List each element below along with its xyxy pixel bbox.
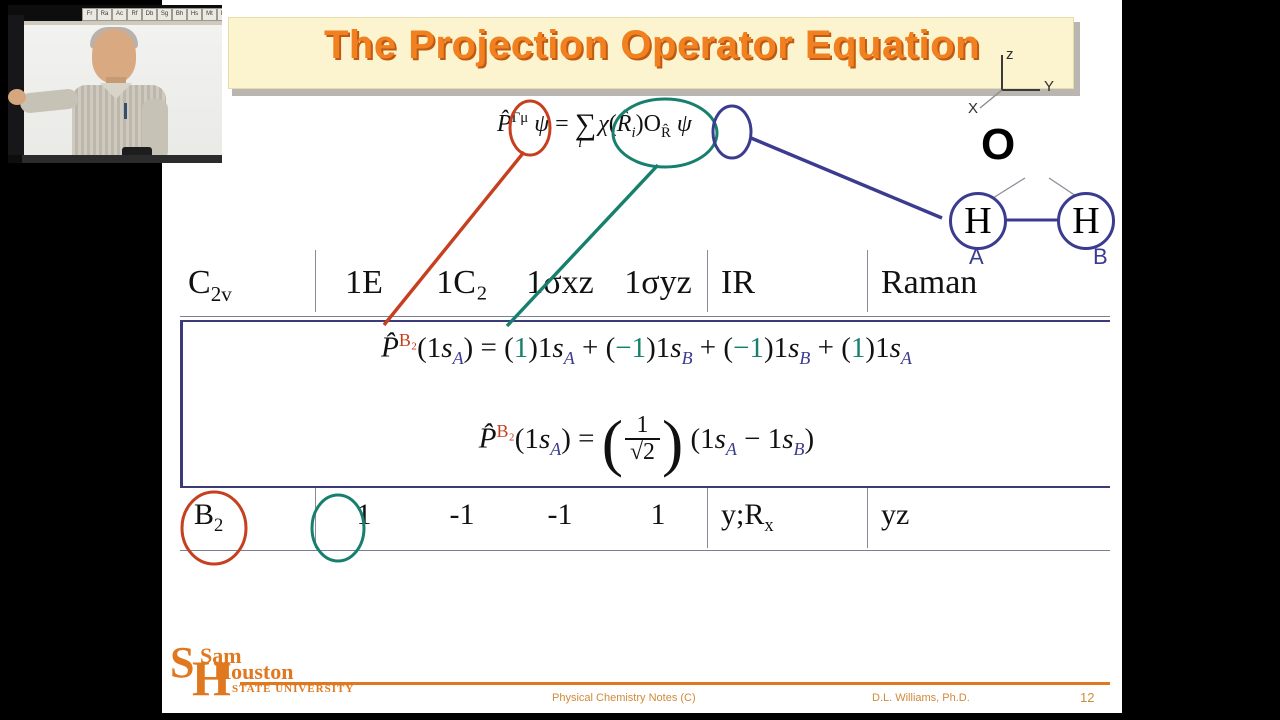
hydrogen-b-atom: H xyxy=(1057,192,1115,250)
row-divider-1 xyxy=(315,488,316,548)
p-operator-2: P̂ xyxy=(479,423,497,455)
table-header-row: C2v 1E 1C₂ 1σxz 1σyz IR Raman xyxy=(180,250,1110,312)
ir-label: IR xyxy=(721,264,755,301)
header-point-group: C2v xyxy=(180,250,315,312)
hydrogen-a-atom: H xyxy=(949,192,1007,250)
header-operation-sigma-yz: 1σyz xyxy=(609,250,707,312)
title-banner: The Projection Operator Equation xyxy=(228,17,1074,89)
column-divider-2 xyxy=(707,250,708,312)
periodic-table-strip: Fr Ra Ac Rf Db Sg Bh Hs Mt Ds xyxy=(82,8,222,21)
header-operation-1e: 1E xyxy=(315,250,413,312)
row-divider-2 xyxy=(707,488,708,548)
hydrogen-a-label: H xyxy=(964,199,991,243)
point-group-letter: C xyxy=(188,264,211,301)
header-operation-sigma-xz: 1σxz xyxy=(511,250,609,312)
character-chi: χ xyxy=(598,111,609,137)
oxygen-atom-label: O xyxy=(981,120,1015,170)
element-cell: Mt xyxy=(202,8,217,21)
presenter xyxy=(66,29,176,163)
term-4: (1)1sA xyxy=(841,332,912,364)
result-expression: (1sA − 1sB) xyxy=(690,423,814,455)
operator-o-symbol: O xyxy=(644,111,661,137)
element-cell: Ac xyxy=(112,8,127,21)
wavefunction-psi: ψ xyxy=(534,111,549,137)
cell-raman-activity: yz xyxy=(867,488,1097,548)
cell-character-c2: -1 xyxy=(413,488,511,548)
plus-2: + xyxy=(700,332,716,364)
university-logo: Sam Houston STATE UNIVERSITY S H xyxy=(170,645,360,705)
cell-symmetry-species: B2 xyxy=(180,488,315,548)
element-cell: Rf xyxy=(127,8,142,21)
axis-label-y: Y xyxy=(1044,78,1054,95)
table-row: B2 1 -1 -1 1 y;Rx yz xyxy=(180,488,1110,548)
fraction-denominator: √2 xyxy=(625,438,660,465)
slide-footer: Sam Houston STATE UNIVERSITY S H Physica… xyxy=(162,645,1122,713)
axis-label-z: z xyxy=(1006,46,1014,63)
operation-argument: (R̂i) xyxy=(609,111,644,137)
column-divider-3 xyxy=(867,250,868,312)
cell-character-e: 1 xyxy=(315,488,413,548)
presenter-left-hand xyxy=(8,89,26,105)
table-rule-bottom xyxy=(180,550,1110,551)
open-paren-big: ( xyxy=(602,407,623,478)
footer-center-text: Physical Chemistry Notes (C) xyxy=(552,692,696,704)
op-label-e: 1E xyxy=(345,264,383,301)
fraction-numerator: 1 xyxy=(625,413,660,438)
wavefunction-psi-2: ψ xyxy=(677,111,692,137)
footer-divider xyxy=(240,682,1110,685)
b2-superscript-2: B₂ xyxy=(497,421,515,441)
symmetry-letter: B xyxy=(194,498,214,531)
operator-o-subscript: R̂ xyxy=(661,125,671,141)
cell-character-syz: 1 xyxy=(609,488,707,548)
hydrogen-b-label: H xyxy=(1072,199,1099,243)
argument-1: (1sA) xyxy=(417,332,473,364)
term-3: (−1)1sB xyxy=(723,332,810,364)
equals-sign: = xyxy=(555,111,569,137)
water-molecule-diagram: O H H A B xyxy=(897,120,1117,265)
page-title: The Projection Operator Equation xyxy=(229,23,1075,68)
op-label-sxz: 1σxz xyxy=(526,264,593,301)
header-operation-c2: 1C₂ xyxy=(413,250,511,312)
element-cell: Ra xyxy=(97,8,112,21)
term-1: (1)1sA xyxy=(504,332,575,364)
equals-1: = xyxy=(480,332,496,364)
close-paren-big: ) xyxy=(662,407,683,478)
header-raman: Raman xyxy=(867,250,1097,312)
axis-label-x: X xyxy=(968,100,978,117)
svg-text:S: S xyxy=(170,643,194,687)
sum-index: i xyxy=(578,135,582,151)
equals-2: = xyxy=(578,423,594,455)
webcam-overlay[interactable]: Fr Ra Ac Rf Db Sg Bh Hs Mt Ds xyxy=(8,5,222,163)
column-divider-1 xyxy=(315,250,316,312)
header-ir: IR xyxy=(707,250,867,312)
element-cell: Bh xyxy=(172,8,187,21)
whiteboard-bottom-rail xyxy=(22,155,222,163)
projection-operator-equation: P̂Γμ ψ = ∑i χ(R̂i)OR̂ ψ xyxy=(497,105,692,142)
op-label-c2: 1C₂ xyxy=(436,264,488,301)
page-number: 12 xyxy=(1080,690,1094,705)
ir-subscript: x xyxy=(764,515,773,536)
video-frame: The Projection Operator Equation z Y X O… xyxy=(0,0,1280,720)
element-cell: Db xyxy=(142,8,157,21)
argument-2: (1sA) xyxy=(515,423,571,455)
footer-author: D.L. Williams, Ph.D. xyxy=(872,692,970,704)
p-operator-1: P̂ xyxy=(381,332,399,364)
derivation-line-2: P̂B₂(1sA) = (1√2) (1sA − 1sB) xyxy=(183,404,1110,478)
operator-superscript: Γμ xyxy=(512,110,529,126)
axis-gizmo: z Y X xyxy=(962,50,1082,120)
chalkboard-left-panel xyxy=(8,15,24,155)
slide-canvas: The Projection Operator Equation z Y X O… xyxy=(162,0,1122,713)
element-cell: Ds xyxy=(217,8,222,21)
row-divider-3 xyxy=(867,488,868,548)
operator-p-symbol: P̂ xyxy=(497,111,512,137)
plus-1: + xyxy=(582,332,598,364)
raman-label: Raman xyxy=(881,264,977,301)
element-cell: Hs xyxy=(187,8,202,21)
cell-ir-activity: y;Rx xyxy=(707,488,867,548)
point-group-subscript: 2v xyxy=(211,282,232,306)
term-2: (−1)1sB xyxy=(606,332,693,364)
b2-superscript-1: B₂ xyxy=(399,330,417,350)
symmetry-subscript: 2 xyxy=(214,515,223,536)
plus-3: + xyxy=(818,332,834,364)
element-cell: Sg xyxy=(157,8,172,21)
presenter-pen xyxy=(124,103,127,119)
whiteboard-top-rail xyxy=(22,21,222,25)
derivation-overlay: P̂B₂(1sA) = (1)1sA + (−1)1sB + (−1)1sB +… xyxy=(180,320,1110,488)
cell-character-sxz: -1 xyxy=(511,488,609,548)
op-label-syz: 1σyz xyxy=(624,264,691,301)
table-rule-top xyxy=(180,316,1110,317)
normalization-fraction: 1√2 xyxy=(625,413,660,465)
presenter-head xyxy=(92,29,136,83)
derivation-line-1: P̂B₂(1sA) = (1)1sA + (−1)1sB + (−1)1sB +… xyxy=(183,330,1110,368)
svg-text:H: H xyxy=(192,650,231,703)
element-cell: Fr xyxy=(82,8,97,21)
